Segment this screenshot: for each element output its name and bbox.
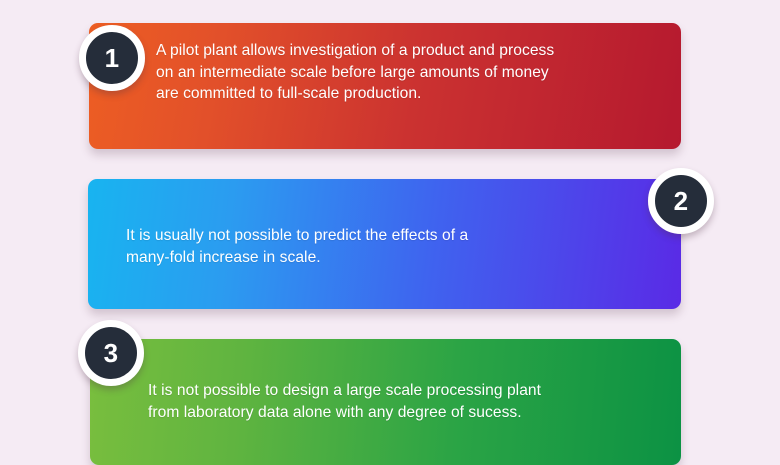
step-badge-2: 2 bbox=[648, 168, 714, 234]
info-card-1-text: A pilot plant allows investigation of a … bbox=[156, 40, 676, 105]
info-card-3-text: It is not possible to design a large sca… bbox=[148, 380, 678, 423]
infographic-stage: A pilot plant allows investigation of a … bbox=[0, 0, 780, 440]
step-badge-2-number: 2 bbox=[674, 188, 689, 214]
step-badge-1-number: 1 bbox=[105, 45, 120, 71]
info-card-2[interactable]: It is usually not possible to predict th… bbox=[88, 179, 681, 309]
step-badge-3: 3 bbox=[78, 320, 144, 386]
step-badge-1: 1 bbox=[79, 25, 145, 91]
info-card-3[interactable]: It is not possible to design a large sca… bbox=[90, 339, 681, 465]
info-card-1[interactable]: A pilot plant allows investigation of a … bbox=[89, 23, 681, 149]
info-card-2-text: It is usually not possible to predict th… bbox=[126, 225, 646, 268]
step-badge-3-number: 3 bbox=[104, 340, 119, 366]
